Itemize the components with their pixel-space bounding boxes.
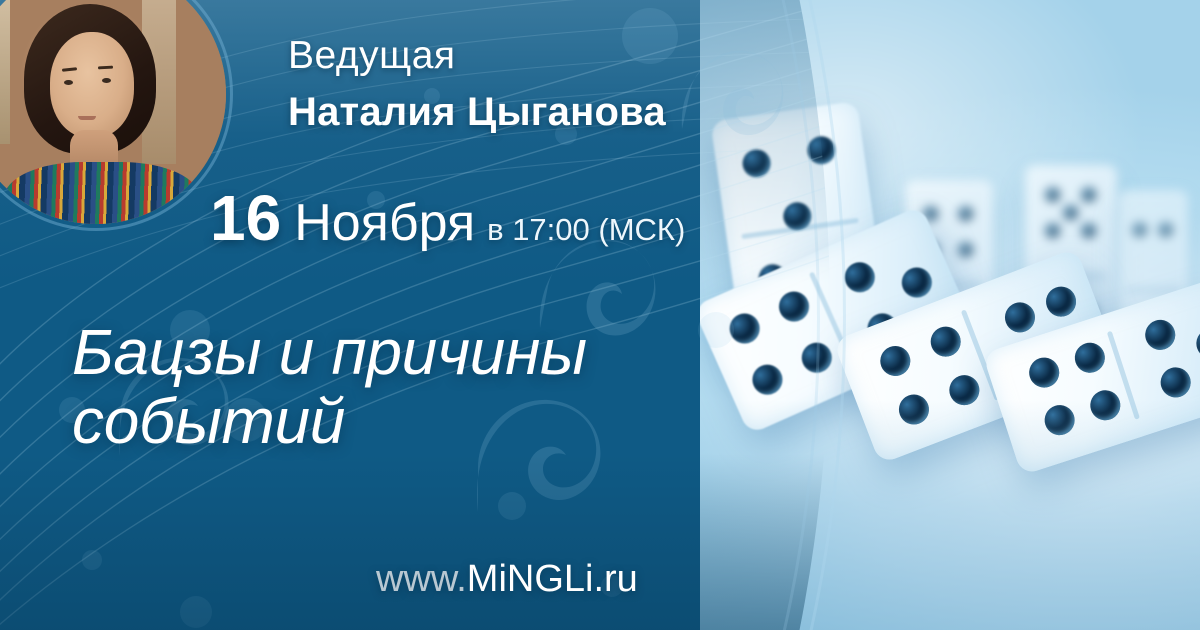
avatar xyxy=(0,0,226,224)
avatar-face xyxy=(50,32,134,138)
event-title: Бацзы и причины событий xyxy=(72,318,752,456)
site-url-domain: MiNGLi.ru xyxy=(467,558,638,600)
host-name: Наталия Цыганова xyxy=(288,90,666,135)
host-role-label: Ведущая xyxy=(288,34,456,78)
event-title-line-2: событий xyxy=(72,387,752,456)
avatar-mouth xyxy=(78,116,96,120)
avatar-photo xyxy=(0,0,226,224)
avatar-bg-column-left xyxy=(0,0,10,144)
webinar-announcement-banner: Ведущая Наталия Цыганова 16 Ноября в 17:… xyxy=(0,0,1200,630)
avatar-shirt xyxy=(4,162,200,224)
event-month: Ноября xyxy=(294,197,475,249)
event-time: в 17:00 (МСК) xyxy=(487,214,685,245)
avatar-eye-right xyxy=(102,78,111,83)
event-title-line-1: Бацзы и причины xyxy=(72,318,752,387)
site-url-prefix: www. xyxy=(376,558,467,600)
site-url[interactable]: www.MiNGLi.ru xyxy=(376,558,638,601)
event-datetime: 16 Ноября в 17:00 (МСК) xyxy=(210,186,685,250)
avatar-eye-left xyxy=(64,80,73,85)
event-day: 16 xyxy=(210,186,281,250)
